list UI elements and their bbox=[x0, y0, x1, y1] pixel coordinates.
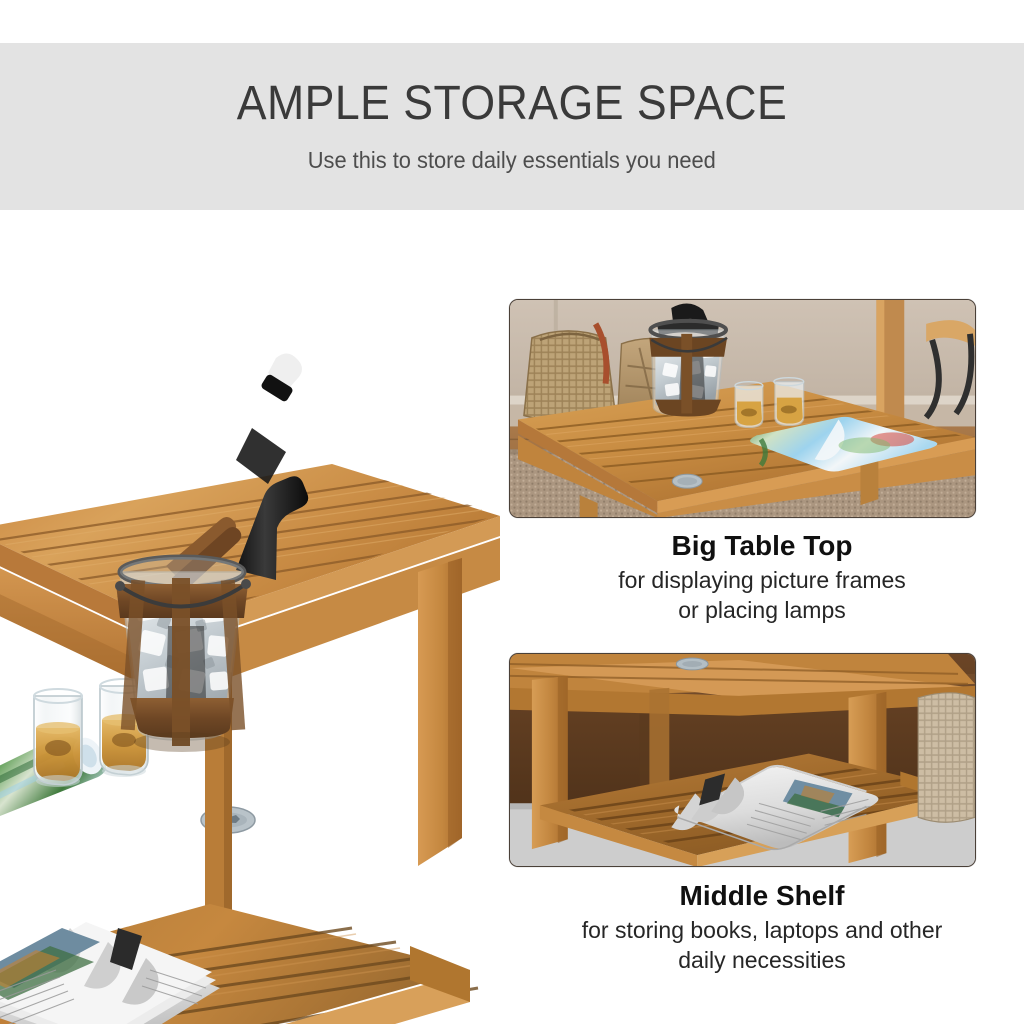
feature-caption-middle-shelf: Middle Shelf for storing books, laptops … bbox=[500, 878, 1024, 976]
brand-badge-top bbox=[672, 474, 702, 488]
feature-body-line-2: or placing lamps bbox=[500, 596, 1024, 626]
feature-title-middle-shelf: Middle Shelf bbox=[500, 878, 1024, 913]
whiskey-glass-b-top bbox=[774, 378, 804, 426]
page-title: AMPLE STORAGE SPACE bbox=[237, 79, 787, 129]
feature-caption-big-table-top: Big Table Top for displaying picture fra… bbox=[500, 528, 1024, 626]
brand-badge-shelf bbox=[676, 658, 708, 670]
hero-photo-artwork bbox=[0, 228, 500, 1024]
feature-body-line-2: daily necessities bbox=[500, 946, 1024, 976]
hero-product-photo bbox=[0, 228, 500, 1024]
feature-photo-middle-shelf bbox=[509, 653, 976, 867]
whiskey-glass-left-hero bbox=[34, 689, 82, 787]
whiskey-glass-a-top bbox=[735, 382, 763, 428]
page-subtitle: Use this to store daily essentials you n… bbox=[308, 147, 716, 174]
feature-body-middle-shelf: for storing books, laptops and other dai… bbox=[500, 916, 1024, 976]
header-band: AMPLE STORAGE SPACE Use this to store da… bbox=[0, 43, 1024, 210]
feature-title-big-table-top: Big Table Top bbox=[500, 528, 1024, 563]
woven-basket-shelf bbox=[918, 693, 975, 822]
feature-body-line-1: for storing books, laptops and other bbox=[500, 916, 1024, 946]
big-table-top-artwork bbox=[510, 300, 975, 518]
feature-photo-big-table-top bbox=[509, 299, 976, 518]
middle-shelf-artwork bbox=[510, 654, 975, 867]
feature-body-line-1: for displaying picture frames bbox=[500, 566, 1024, 596]
feature-body-big-table-top: for displaying picture frames or placing… bbox=[500, 566, 1024, 626]
